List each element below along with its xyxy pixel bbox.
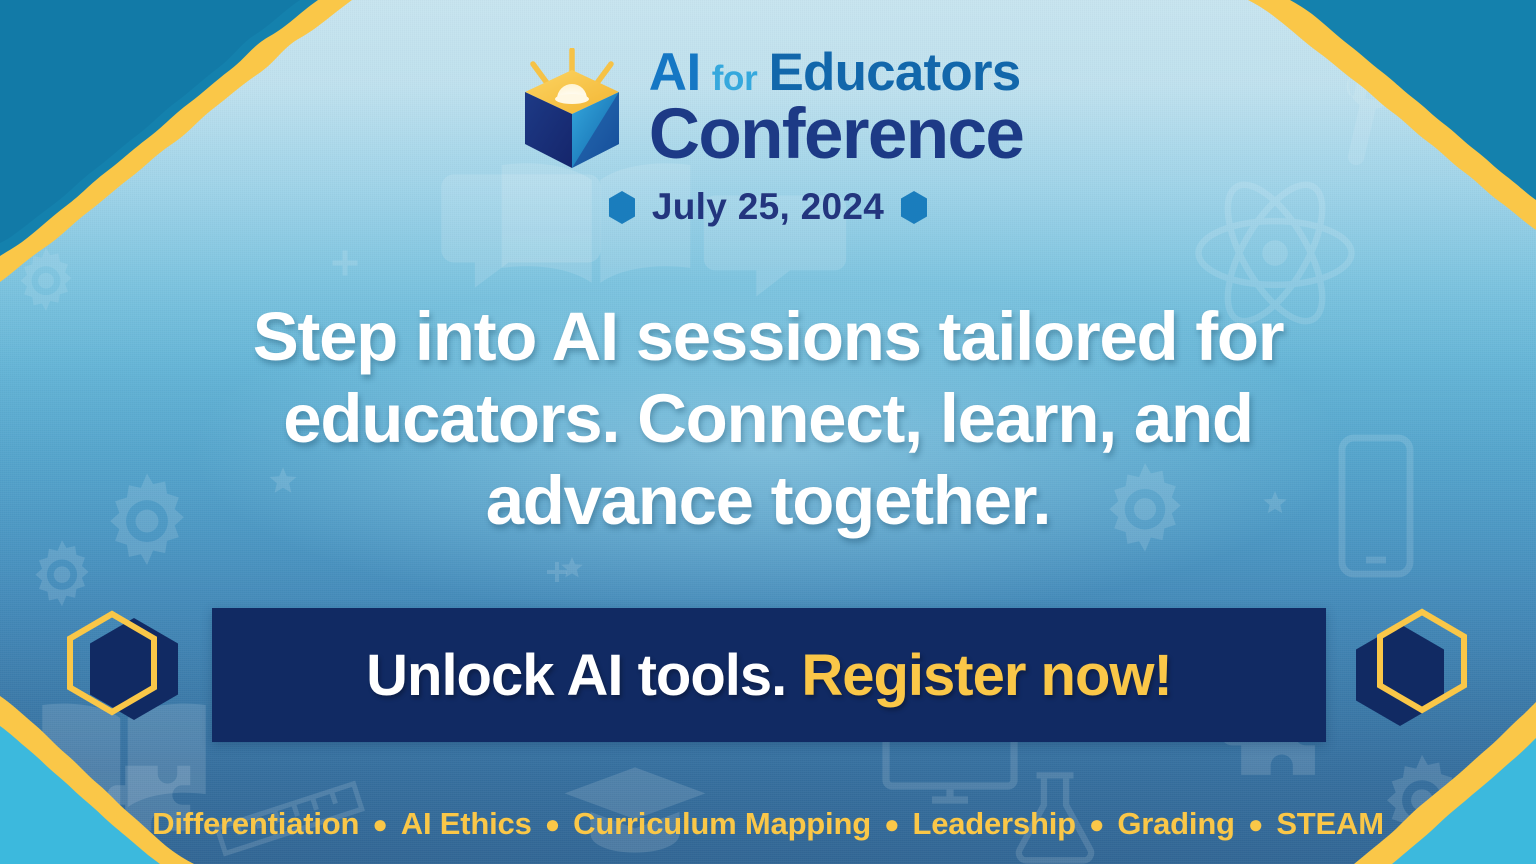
plus-watermark-icon [330, 248, 360, 278]
headline-line-2: educators. Connect, learn, and [103, 378, 1433, 460]
page-headline: Step into AI sessions tailored for educa… [103, 296, 1433, 542]
hexagon-bullet-icon [899, 191, 929, 224]
headline-line-1: Step into AI sessions tailored for [103, 296, 1433, 378]
cta-primary-text: Unlock AI tools. [366, 643, 786, 708]
wordmark-line-1: AI for Educators [649, 48, 1024, 99]
cta-text-group: Unlock AI tools. Register now! [366, 642, 1172, 709]
wordmark: AI for Educators Conference [649, 48, 1024, 169]
topic-separator-icon: ● [871, 811, 913, 837]
logo-block: AI for Educators Conference July 25, 202… [0, 46, 1536, 228]
star-watermark-icon [560, 556, 584, 580]
logo-row: AI for Educators Conference [513, 46, 1024, 172]
topic-separator-icon: ● [359, 811, 401, 837]
topics-strip: Differentiation ● AI Ethics ● Curriculum… [0, 806, 1536, 842]
gear-watermark-icon [1364, 744, 1480, 860]
topic-separator-icon: ● [532, 811, 574, 837]
topic-item: Differentiation [152, 806, 359, 842]
wordmark-for: for [712, 62, 758, 96]
hexagon-pair-decoration-left [62, 604, 190, 736]
wordmark-conference: Conference [649, 100, 1024, 170]
conference-promo-poster: AI for Educators Conference July 25, 202… [0, 0, 1536, 864]
topic-item: Leadership [912, 806, 1075, 842]
cta-accent-text[interactable]: Register now! [801, 643, 1172, 708]
hexagon-pair-decoration-right [1346, 604, 1474, 736]
topic-separator-icon: ● [1235, 811, 1277, 837]
hexagon-bullet-icon [607, 191, 637, 224]
date-row: July 25, 2024 [607, 186, 929, 228]
cta-banner[interactable]: Unlock AI tools. Register now! [212, 608, 1326, 742]
cube-lightbulb-logo-icon [513, 48, 631, 172]
wordmark-ai: AI [649, 48, 701, 99]
topic-separator-icon: ● [1076, 811, 1118, 837]
topic-item: STEAM [1276, 806, 1384, 842]
wordmark-educators: Educators [768, 48, 1020, 99]
conference-date: July 25, 2024 [652, 186, 884, 228]
gear-watermark-icon [4, 240, 88, 324]
topic-item: Grading [1117, 806, 1234, 842]
plus-watermark-icon [545, 560, 569, 584]
topic-item: Curriculum Mapping [573, 806, 871, 842]
topic-item: AI Ethics [401, 806, 532, 842]
headline-line-3: advance together. [103, 460, 1433, 542]
